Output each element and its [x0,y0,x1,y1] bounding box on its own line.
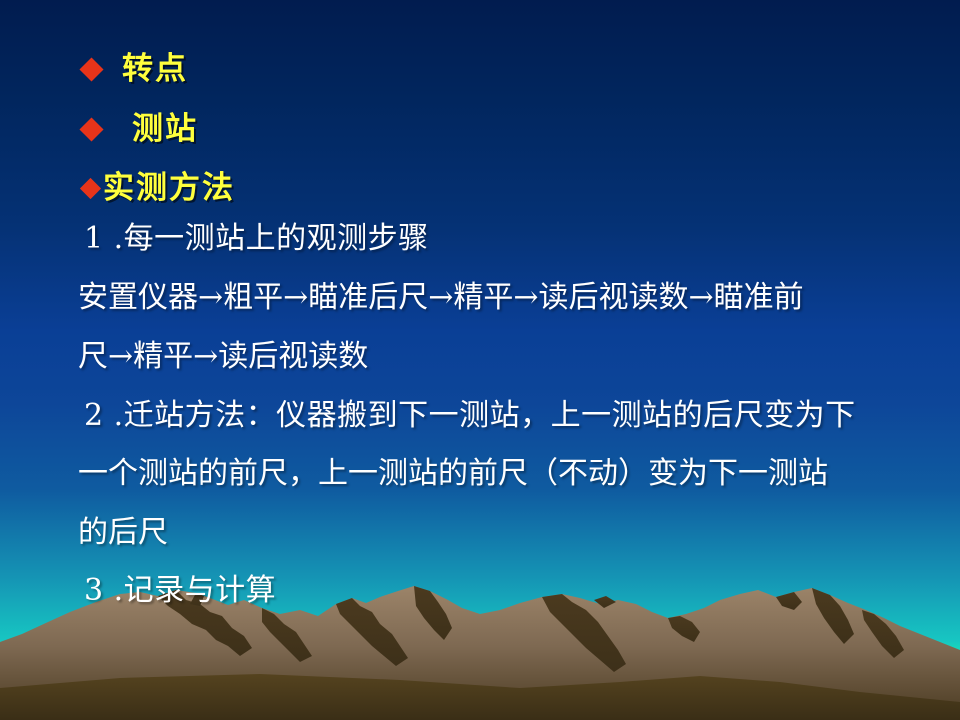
body-item1-flow-line2: 尺→精平→读后视读数 [78,342,368,372]
heading-item-3: 实测方法 [83,173,235,204]
heading-item-2: 测站 [83,114,198,145]
heading-label-1: 转点 [122,54,188,85]
heading-label-3: 实测方法 [103,173,235,204]
diamond-bullet-icon [79,57,103,81]
body-item1-flow-line1: 安置仪器→粗平→瞄准后尺→精平→读后视读数→瞄准前 [78,283,804,313]
body-item3-title: 3 .记录与计算 [84,576,276,606]
body-item2-line2: 一个测站的前尺，上一测站的前尺（不动）变为下一测站 [78,459,828,489]
diamond-bullet-icon [79,117,103,141]
heading-label-2: 测站 [132,114,198,145]
heading-item-1: 转点 [83,54,188,85]
slide-canvas: 转点 测站 实测方法 1 .每一测站上的观测步骤 安置仪器→粗平→瞄准后尺→精平… [0,0,960,720]
slide-text-content: 转点 测站 实测方法 1 .每一测站上的观测步骤 安置仪器→粗平→瞄准后尺→精平… [0,0,960,720]
body-item1-title: 1 .每一测站上的观测步骤 [84,224,429,254]
body-item2-line1: 2 .迁站方法：仪器搬到下一测站，上一测站的后尺变为下 [84,401,856,431]
body-item2-line3: 的后尺 [78,518,168,548]
diamond-bullet-icon [80,178,101,199]
